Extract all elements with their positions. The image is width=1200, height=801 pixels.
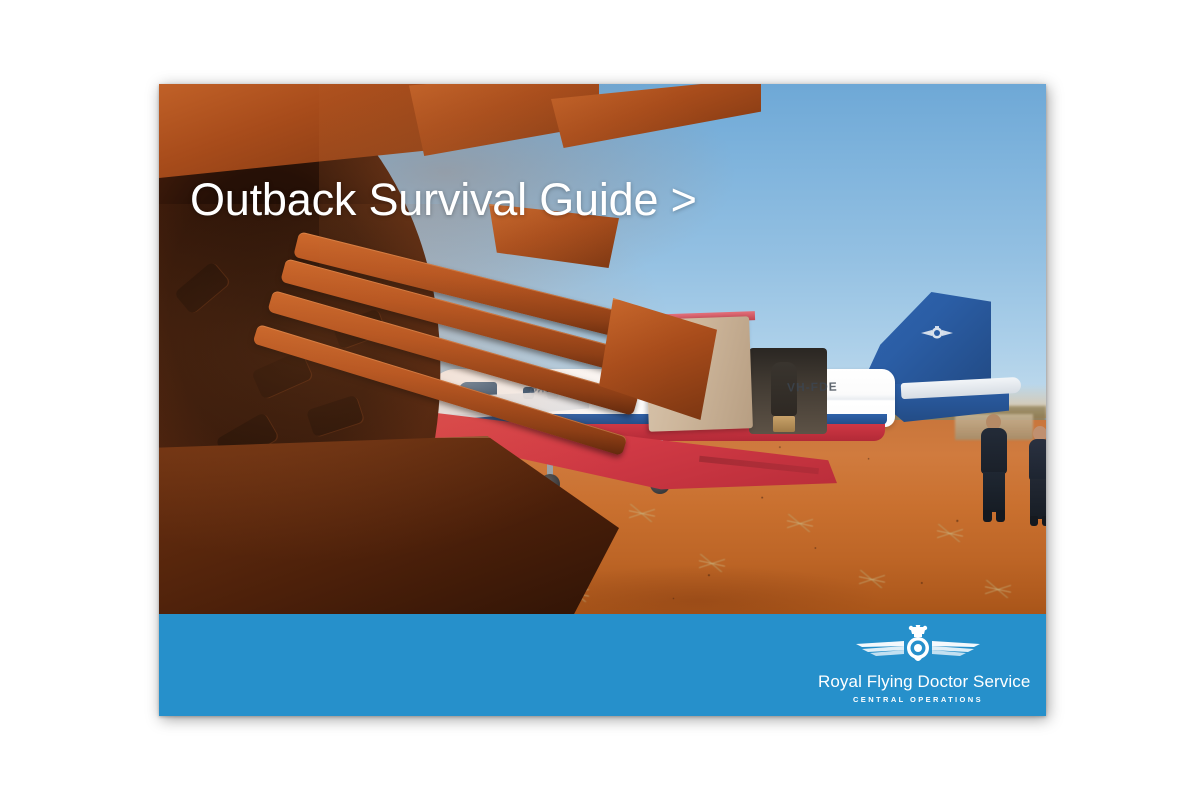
rfds-subtitle: CENTRAL OPERATIONS <box>818 695 1018 704</box>
grass-tuft <box>699 554 725 572</box>
rfds-logo[interactable]: Royal Flying Doctor Service CENTRAL OPER… <box>818 625 1018 704</box>
grass-tuft <box>629 504 655 522</box>
footer-band: Royal Flying Doctor Service CENTRAL OPER… <box>159 614 1046 716</box>
grass-tuft <box>459 488 485 506</box>
grass-tuft <box>937 524 963 542</box>
grass-tuft <box>787 514 813 532</box>
boot <box>1042 516 1046 526</box>
legs <box>1030 479 1046 519</box>
cover-photo: Royal Flying Doctor VH-FDE <box>159 84 1046 614</box>
cargo-door <box>645 316 753 432</box>
boot <box>1030 516 1038 526</box>
tail-emblem-icon <box>919 322 955 344</box>
crew-member-2 <box>1025 426 1046 526</box>
boot <box>996 510 1005 522</box>
cabin-equipment-box <box>773 416 795 432</box>
grass-tuft <box>859 570 885 588</box>
grass-tuft <box>985 580 1011 598</box>
grass-tuft <box>563 584 589 602</box>
boot <box>983 510 992 522</box>
crew-member-1 <box>977 414 1011 524</box>
grass-tuft <box>511 532 537 550</box>
main-gear-wheel-left <box>540 474 560 494</box>
propeller-blur <box>377 366 391 438</box>
legs <box>983 472 1005 512</box>
rfds-winged-crown-emblem-icon <box>848 625 988 671</box>
torso <box>981 428 1007 474</box>
aircraft-registration: VH-FDE <box>787 380 838 395</box>
cover-card[interactable]: Royal Flying Doctor VH-FDE <box>159 84 1046 716</box>
torso <box>1029 439 1046 481</box>
page-title: Outback Survival Guide > <box>190 174 697 226</box>
grass-tuft <box>415 552 441 570</box>
cargo-door-window <box>677 340 694 362</box>
nose-gear-wheel <box>444 470 464 490</box>
rfds-wordmark: Royal Flying Doctor Service <box>818 672 1018 692</box>
